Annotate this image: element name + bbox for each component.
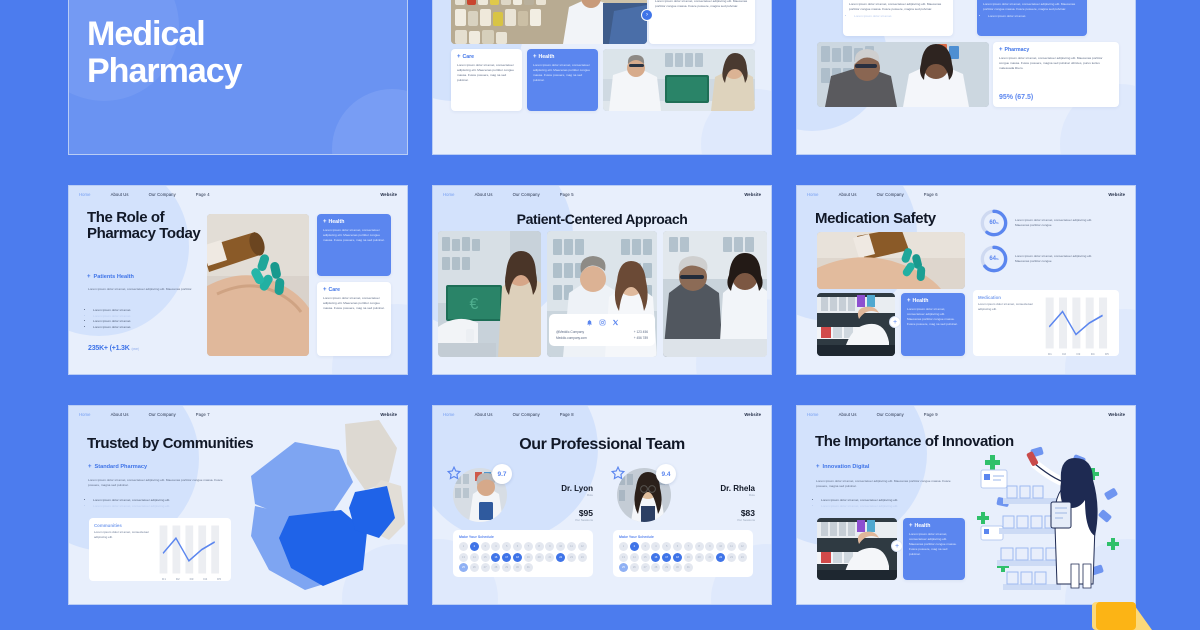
schedule-day[interactable]: 28 (651, 563, 660, 572)
schedule-day[interactable]: 16 (651, 553, 660, 562)
photo-pharmacy-shelves (451, 0, 647, 44)
card-body: Lorem ipsum dolor sit amet, consectetuer… (999, 56, 1113, 71)
nav-website-link[interactable]: Website (744, 412, 761, 417)
card-body: Lorem ipsum dolor sit amet, consectetuer… (849, 2, 947, 12)
slide-navbar[interactable]: Home About Us Our Company Page 9 Website (797, 406, 1135, 422)
schedule-day[interactable]: 9 (705, 542, 714, 551)
slide-navbar[interactable]: Home About Us Our Company Page 6 Website (797, 186, 1135, 202)
card-health[interactable]: +Health Lorem ipsum dolor sit amet, cons… (527, 49, 598, 111)
x-tick: D2 (1062, 352, 1066, 356)
chart-x-axis: D1 D2 D3 D4 D5 (157, 577, 226, 581)
schedule-day[interactable]: 2 (470, 542, 479, 551)
contact-card[interactable]: @Meddic.Company + 123 456 Meddic.company… (549, 314, 655, 346)
page-title: The Role of Pharmacy Today (87, 210, 200, 242)
page-title: Our Professional Team (433, 436, 771, 453)
section-standard-pharmacy: +Standard Pharmacy (88, 464, 147, 470)
member-score: 9.4 (656, 464, 676, 484)
plus-icon: + (87, 274, 91, 280)
nav-item-about-us[interactable]: About Us (475, 192, 493, 197)
schedule-day[interactable]: 30 (513, 563, 522, 572)
nav-item-about-us[interactable]: About Us (111, 192, 129, 197)
next-arrow-button[interactable]: › (641, 9, 653, 21)
slide-8-professional-team[interactable]: Home About Us Our Company Page 8 Website… (432, 405, 772, 605)
nav-item-our-company[interactable]: Our Company (513, 412, 540, 417)
chart-legend: Communities Lorem ipsum dolor sit amet, … (94, 523, 152, 576)
schedule-day[interactable]: 13 (459, 553, 468, 562)
nav-item-our-company[interactable]: Our Company (513, 192, 540, 197)
card-body: Lorem ipsum dolor sit amet, consectetuer… (457, 63, 516, 83)
schedule-day[interactable]: 30 (673, 563, 682, 572)
nav-item-our-company[interactable]: Our Company (877, 192, 904, 197)
nav-item-home[interactable]: Home (443, 412, 455, 417)
card-care[interactable]: +Care Lorem ipsum dolor sit amet, consec… (451, 49, 522, 111)
gauge-value: 64% (979, 244, 1009, 274)
x-tick: D2 (176, 577, 180, 581)
chart-svg (157, 523, 226, 576)
gauge-64: 64% (979, 244, 1009, 274)
card-bullets: Lorem ipsum dolor sit amet. (849, 14, 947, 20)
photo-pharmacist-customer (817, 42, 989, 107)
schedule-title: Make Your Schedule (459, 535, 587, 539)
card-care[interactable]: +Care Lorem ipsum dolor sit amet, consec… (317, 282, 391, 356)
chart-medication[interactable]: Medication Lorem ipsum dolor sit amet, c… (973, 290, 1119, 356)
gauge-row-2: 64% Lorem ipsum dolor sit amet, consecte… (979, 244, 1107, 274)
schedule-day[interactable]: 24 (578, 553, 587, 562)
decor-blob (332, 89, 408, 155)
x-tick: D5 (217, 577, 221, 581)
card-pharmacy[interactable]: +Pharmacy Lorem ipsum dolor sit amet, co… (649, 0, 755, 44)
schedule-day[interactable]: 20 (695, 553, 704, 562)
page-title: Trusted by Communities (87, 436, 253, 452)
nav-item-about-us[interactable]: About Us (475, 412, 493, 417)
nav-website-link[interactable]: Website (380, 412, 397, 417)
card-title: +Pharmacy (999, 47, 1113, 53)
card-body: Lorem ipsum dolor sit amet, consectetuer… (323, 228, 385, 243)
section-bullets: Lorem ipsum dolor sit amet, consectetuer… (816, 498, 956, 509)
section-bullets: Lorem ipsum dolor sit amet, consectetuer… (88, 498, 228, 509)
card-title: +Health (907, 298, 959, 304)
photo-art (817, 42, 989, 107)
schedule-day[interactable]: 21 (705, 553, 714, 562)
gauge-value: 60% (979, 208, 1009, 238)
schedule-day[interactable]: 19 (684, 553, 693, 562)
schedule-day[interactable]: 27 (641, 563, 650, 572)
schedule-day[interactable]: 8 (695, 542, 704, 551)
plus-icon: + (88, 464, 92, 470)
nav-website-link[interactable]: Website (1108, 192, 1125, 197)
schedule-day[interactable]: 28 (491, 563, 500, 572)
nav-website-link[interactable]: Website (380, 192, 397, 197)
slide-5-patient-centered[interactable]: Home About Us Our Company Page 5 Website… (432, 185, 772, 375)
schedule-day[interactable]: 20 (535, 553, 544, 562)
schedule-day[interactable]: 1 (619, 542, 628, 551)
photo-counter-left: € (438, 231, 541, 357)
page-title: Patient-Centered Approach (433, 212, 771, 227)
nav-item-page[interactable]: Page 6 (924, 192, 938, 197)
chart-plot: D1 D2 D3 D4 D5 (157, 523, 226, 576)
schedule-day[interactable]: 22 (556, 553, 565, 562)
photo-art (817, 518, 897, 580)
member-price-unit: Per Sessions (513, 518, 593, 522)
schedule-day[interactable]: 27 (481, 563, 490, 572)
schedule-day[interactable]: 21 (545, 553, 554, 562)
plus-icon: + (907, 298, 911, 304)
card-body: Lorem ipsum dolor sit amet, consectetuer… (533, 63, 592, 83)
gauge-description: Lorem ipsum dolor sit amet, consectetuer… (1015, 218, 1107, 229)
schedule-day[interactable]: 1 (459, 542, 468, 551)
slide-deck: Medical Pharmacy Medical Pharmacy Introd… (68, 0, 1136, 605)
nav-item-home[interactable]: Home (79, 412, 91, 417)
chart-plot: D1 D2 D3 D4 D5 (1043, 295, 1114, 351)
card-vision[interactable]: +Vision Lorem ipsum dolor sit amet, cons… (843, 0, 953, 36)
card-title: +Care (457, 54, 516, 60)
schedule-day[interactable]: 26 (470, 563, 479, 572)
slide-7-trusted-communities[interactable]: Home About Us Our Company Page 7 Website… (68, 405, 408, 605)
schedule-day[interactable]: 15 (481, 553, 490, 562)
page-title: Medical Pharmacy (87, 16, 242, 89)
schedule-day[interactable]: 5 (662, 542, 671, 551)
photo-consultation (603, 49, 755, 111)
schedule-day[interactable]: 11 (727, 542, 736, 551)
nav-item-about-us[interactable]: About Us (839, 412, 857, 417)
slide-2-introduction[interactable]: Medical Pharmacy Introduction (432, 0, 772, 155)
plus-circle-icon[interactable]: + (889, 316, 901, 328)
schedule-day[interactable]: 26 (630, 563, 639, 572)
gauge-row-1: 60% Lorem ipsum dolor sit amet, consecte… (979, 208, 1107, 238)
schedule-card-2[interactable]: Make Your Schedule 123456789101112131415… (613, 530, 753, 577)
schedule-day[interactable]: 22 (716, 553, 725, 562)
photo-art (207, 214, 309, 356)
member-price: $95 (513, 508, 593, 518)
nav-item-page[interactable]: Page 7 (196, 412, 210, 417)
member-price: $83 (677, 508, 755, 518)
page-title: Medication Safety (815, 211, 936, 227)
chart-x-axis: D1 D2 D3 D4 D5 (1043, 352, 1114, 356)
nav-item-home[interactable]: Home (79, 192, 91, 197)
schedule-title: Make Your Schedule (619, 535, 747, 539)
member-1-price: $95 Per Sessions (513, 508, 593, 522)
photo-shelf-stocking (817, 293, 895, 356)
team-member-2[interactable]: 9.4 (617, 468, 671, 522)
plus-icon: + (909, 523, 913, 529)
card-body: Lorem ipsum dolor sit amet, consectetuer… (909, 532, 959, 557)
schedule-day[interactable]: 14 (630, 553, 639, 562)
x-tick: D5 (1105, 352, 1109, 356)
x-tick: D3 (1076, 352, 1080, 356)
nav-item-page[interactable]: Page 8 (560, 412, 574, 417)
plus-icon: + (533, 54, 537, 60)
nav-item-page[interactable]: Page 9 (924, 412, 938, 417)
x-tick: D4 (1091, 352, 1095, 356)
schedule-day[interactable]: 17 (502, 553, 511, 562)
team-member-1[interactable]: 9.7 (453, 468, 507, 522)
plus-icon: + (999, 47, 1003, 53)
schedule-day[interactable]: 24 (738, 553, 747, 562)
schedule-day[interactable]: 3 (481, 542, 490, 551)
schedule-day[interactable]: 5 (502, 542, 511, 551)
chart-title: Communities (94, 523, 152, 528)
schedule-day[interactable]: 25 (619, 563, 628, 572)
photo-art: € (438, 231, 541, 357)
map-region-north[interactable] (345, 420, 397, 490)
schedule-day-grid[interactable]: 1234567891011121314151617181920212223242… (459, 542, 587, 572)
chart-description: Lorem ipsum dolor sit amet, consectetuer… (978, 302, 1038, 312)
card-body: Lorem ipsum dolor sit amet, consectetuer… (323, 296, 385, 311)
schedule-day[interactable]: 4 (491, 542, 500, 551)
schedule-day[interactable]: 11 (567, 542, 576, 551)
schedule-day[interactable]: 10 (556, 542, 565, 551)
schedule-day[interactable]: 17 (662, 553, 671, 562)
nav-item-about-us[interactable]: About Us (839, 192, 857, 197)
photo-art (663, 231, 767, 357)
nav-item-our-company[interactable]: Our Company (877, 412, 904, 417)
nav-item-our-company[interactable]: Our Company (149, 192, 176, 197)
section-body: Lorem ipsum dolor sit amet, consectetuer… (88, 478, 224, 488)
plus-icon: + (323, 287, 327, 293)
nav-item-home[interactable]: Home (443, 192, 455, 197)
slide-9-innovation[interactable]: Home About Us Our Company Page 9 Website… (796, 405, 1136, 605)
chart-communities[interactable]: Communities Lorem ipsum dolor sit amet, … (89, 518, 231, 581)
card-health[interactable]: +Health Lorem ipsum dolor sit amet, cons… (901, 293, 965, 356)
x-tick: D1 (162, 577, 166, 581)
bell-icon[interactable] (586, 319, 593, 326)
member-role: Role (513, 493, 593, 497)
slide-navbar[interactable]: Home About Us Our Company Page 5 Website (433, 186, 771, 202)
corner-sticker (1080, 594, 1200, 630)
member-score: 9.7 (492, 464, 512, 484)
schedule-day[interactable]: 9 (545, 542, 554, 551)
photo-pills-in-hand (207, 214, 309, 356)
nav-item-page[interactable]: Page 5 (560, 192, 574, 197)
member-name: Dr. Rhela (677, 484, 755, 493)
section-patients-health: +Patients Health (87, 274, 134, 280)
card-mission[interactable]: +Mission Lorem ipsum dolor sit amet, con… (977, 0, 1087, 36)
schedule-day[interactable]: 18 (513, 553, 522, 562)
gauge-60: 60% (979, 208, 1009, 238)
schedule-day[interactable]: 13 (619, 553, 628, 562)
schedule-day[interactable]: 29 (662, 563, 671, 572)
schedule-card-1[interactable]: Make Your Schedule 123456789101112131415… (453, 530, 593, 577)
schedule-day[interactable]: 18 (673, 553, 682, 562)
schedule-day[interactable]: 23 (567, 553, 576, 562)
nav-item-home[interactable]: Home (807, 192, 819, 197)
slide-4-role-of-pharmacy[interactable]: Home About Us Our Company Page 4 Website… (68, 185, 408, 375)
member-2-info: Dr. Rhela Role (677, 484, 755, 497)
photo-art (603, 49, 755, 111)
card-pharmacy[interactable]: +Pharmacy Lorem ipsum dolor sit amet, co… (993, 42, 1119, 107)
schedule-day[interactable]: 29 (502, 563, 511, 572)
nav-item-about-us[interactable]: About Us (111, 412, 129, 417)
card-health[interactable]: +Health Lorem ipsum dolor sit amet, cons… (317, 214, 391, 276)
x-tick: D1 (1048, 352, 1052, 356)
section-body: Lorem ipsum dolor sit amet, consectetuer… (88, 287, 206, 292)
region-map[interactable] (229, 420, 407, 592)
schedule-day[interactable]: 12 (578, 542, 587, 551)
chart-legend: Medication Lorem ipsum dolor sit amet, c… (978, 295, 1038, 351)
schedule-day[interactable]: 6 (513, 542, 522, 551)
slide-6-medication-safety[interactable]: Home About Us Our Company Page 6 Website… (796, 185, 1136, 375)
photo-art (817, 293, 895, 356)
instagram-icon[interactable] (599, 319, 606, 326)
x-tick: D3 (190, 577, 194, 581)
schedule-day[interactable]: 8 (535, 542, 544, 551)
contact-website: Meddic.company.com (556, 335, 587, 341)
photo-art (451, 0, 647, 44)
map-region-west[interactable] (251, 442, 353, 518)
schedule-day[interactable]: 7 (684, 542, 693, 551)
card-bullets: Lorem ipsum dolor sit amet. (983, 14, 1081, 20)
photo-pills-hand (817, 232, 965, 289)
schedule-day[interactable]: 31 (524, 563, 533, 572)
section-body: Lorem ipsum dolor sit amet, consectetuer… (816, 479, 952, 489)
card-title: +Health (323, 219, 385, 225)
stat-value: 95% (67.5) (999, 94, 1033, 101)
plus-icon: + (457, 54, 461, 60)
schedule-day[interactable]: 4 (651, 542, 660, 551)
x-icon[interactable] (612, 319, 619, 326)
schedule-day[interactable]: 7 (524, 542, 533, 551)
x-tick: D4 (203, 577, 207, 581)
member-price-unit: Per Sessions (677, 518, 755, 522)
card-body: Lorem ipsum dolor sit amet, consectetuer… (655, 0, 749, 9)
schedule-day[interactable]: 12 (738, 542, 747, 551)
card-title: +Care (323, 287, 385, 293)
nav-website-link[interactable]: Website (1108, 412, 1125, 417)
schedule-day[interactable]: 6 (673, 542, 682, 551)
plus-icon: + (323, 219, 327, 225)
card-title: +Health (533, 54, 592, 60)
nav-item-home[interactable]: Home (807, 412, 819, 417)
card-health[interactable]: +Health Lorem ipsum dolor sit amet, cons… (903, 518, 965, 580)
schedule-day[interactable]: 31 (684, 563, 693, 572)
pharmacist-illustration (973, 442, 1133, 590)
card-body: Lorem ipsum dolor sit amet, consectetuer… (907, 307, 959, 327)
photo-shelf-stocking (817, 518, 897, 580)
photo-art (817, 232, 965, 289)
member-role: Role (677, 493, 755, 497)
chart-description: Lorem ipsum dolor sit amet, consectetuer… (94, 530, 152, 540)
plus-icon: + (816, 464, 820, 470)
contact-row: Meddic.company.com + 456 789 (556, 335, 648, 341)
gauge-description: Lorem ipsum dolor sit amet, consectetuer… (1015, 254, 1107, 265)
social-icons[interactable] (556, 319, 648, 326)
member-2-price: $83 Per Sessions (677, 508, 755, 522)
star-icon (447, 466, 461, 480)
photo-counter-right (663, 231, 767, 357)
nav-website-link[interactable]: Website (744, 192, 761, 197)
schedule-day[interactable]: 23 (727, 553, 736, 562)
slide-3-vision-mission[interactable]: Our Vision & Mission +Vision Lorem ipsum… (796, 0, 1136, 155)
nav-item-page[interactable]: Page 4 (196, 192, 210, 197)
star-icon (611, 466, 625, 480)
contact-phone-2: + 456 789 (634, 335, 648, 341)
stat-patients: 235K+ (+1.3K /year) (88, 345, 139, 352)
slide-navbar[interactable]: Home About Us Our Company Page 7 Website (69, 406, 407, 422)
schedule-day[interactable]: 3 (641, 542, 650, 551)
chart-title: Medication (978, 295, 1038, 300)
member-1-info: Dr. Lyon Role (513, 484, 593, 497)
member-name: Dr. Lyon (513, 484, 593, 493)
card-body: Lorem ipsum dolor sit amet, consectetuer… (983, 2, 1081, 12)
plus-circle-icon[interactable]: + (891, 540, 903, 552)
card-title: +Health (909, 523, 959, 529)
schedule-day[interactable]: 25 (459, 563, 468, 572)
schedule-day[interactable]: 14 (470, 553, 479, 562)
schedule-day-grid[interactable]: 1234567891011121314151617181920212223242… (619, 542, 747, 572)
schedule-day[interactable]: 15 (641, 553, 650, 562)
schedule-day[interactable]: 16 (491, 553, 500, 562)
nav-item-our-company[interactable]: Our Company (149, 412, 176, 417)
slide-1-title[interactable]: Medical Pharmacy (68, 0, 408, 155)
slide-navbar[interactable]: Home About Us Our Company Page 8 Website (433, 406, 771, 422)
section-innovation-digital: +Innovation Digital (816, 464, 869, 470)
schedule-day[interactable]: 19 (524, 553, 533, 562)
section-bullets: Lorem ipsum dolor sit amet. Lorem ipsum … (88, 308, 208, 330)
chart-svg (1043, 295, 1114, 351)
svg-text:€: € (470, 296, 479, 313)
schedule-day[interactable]: 10 (716, 542, 725, 551)
slide-navbar[interactable]: Home About Us Our Company Page 4 Website (69, 186, 407, 202)
schedule-day[interactable]: 2 (630, 542, 639, 551)
